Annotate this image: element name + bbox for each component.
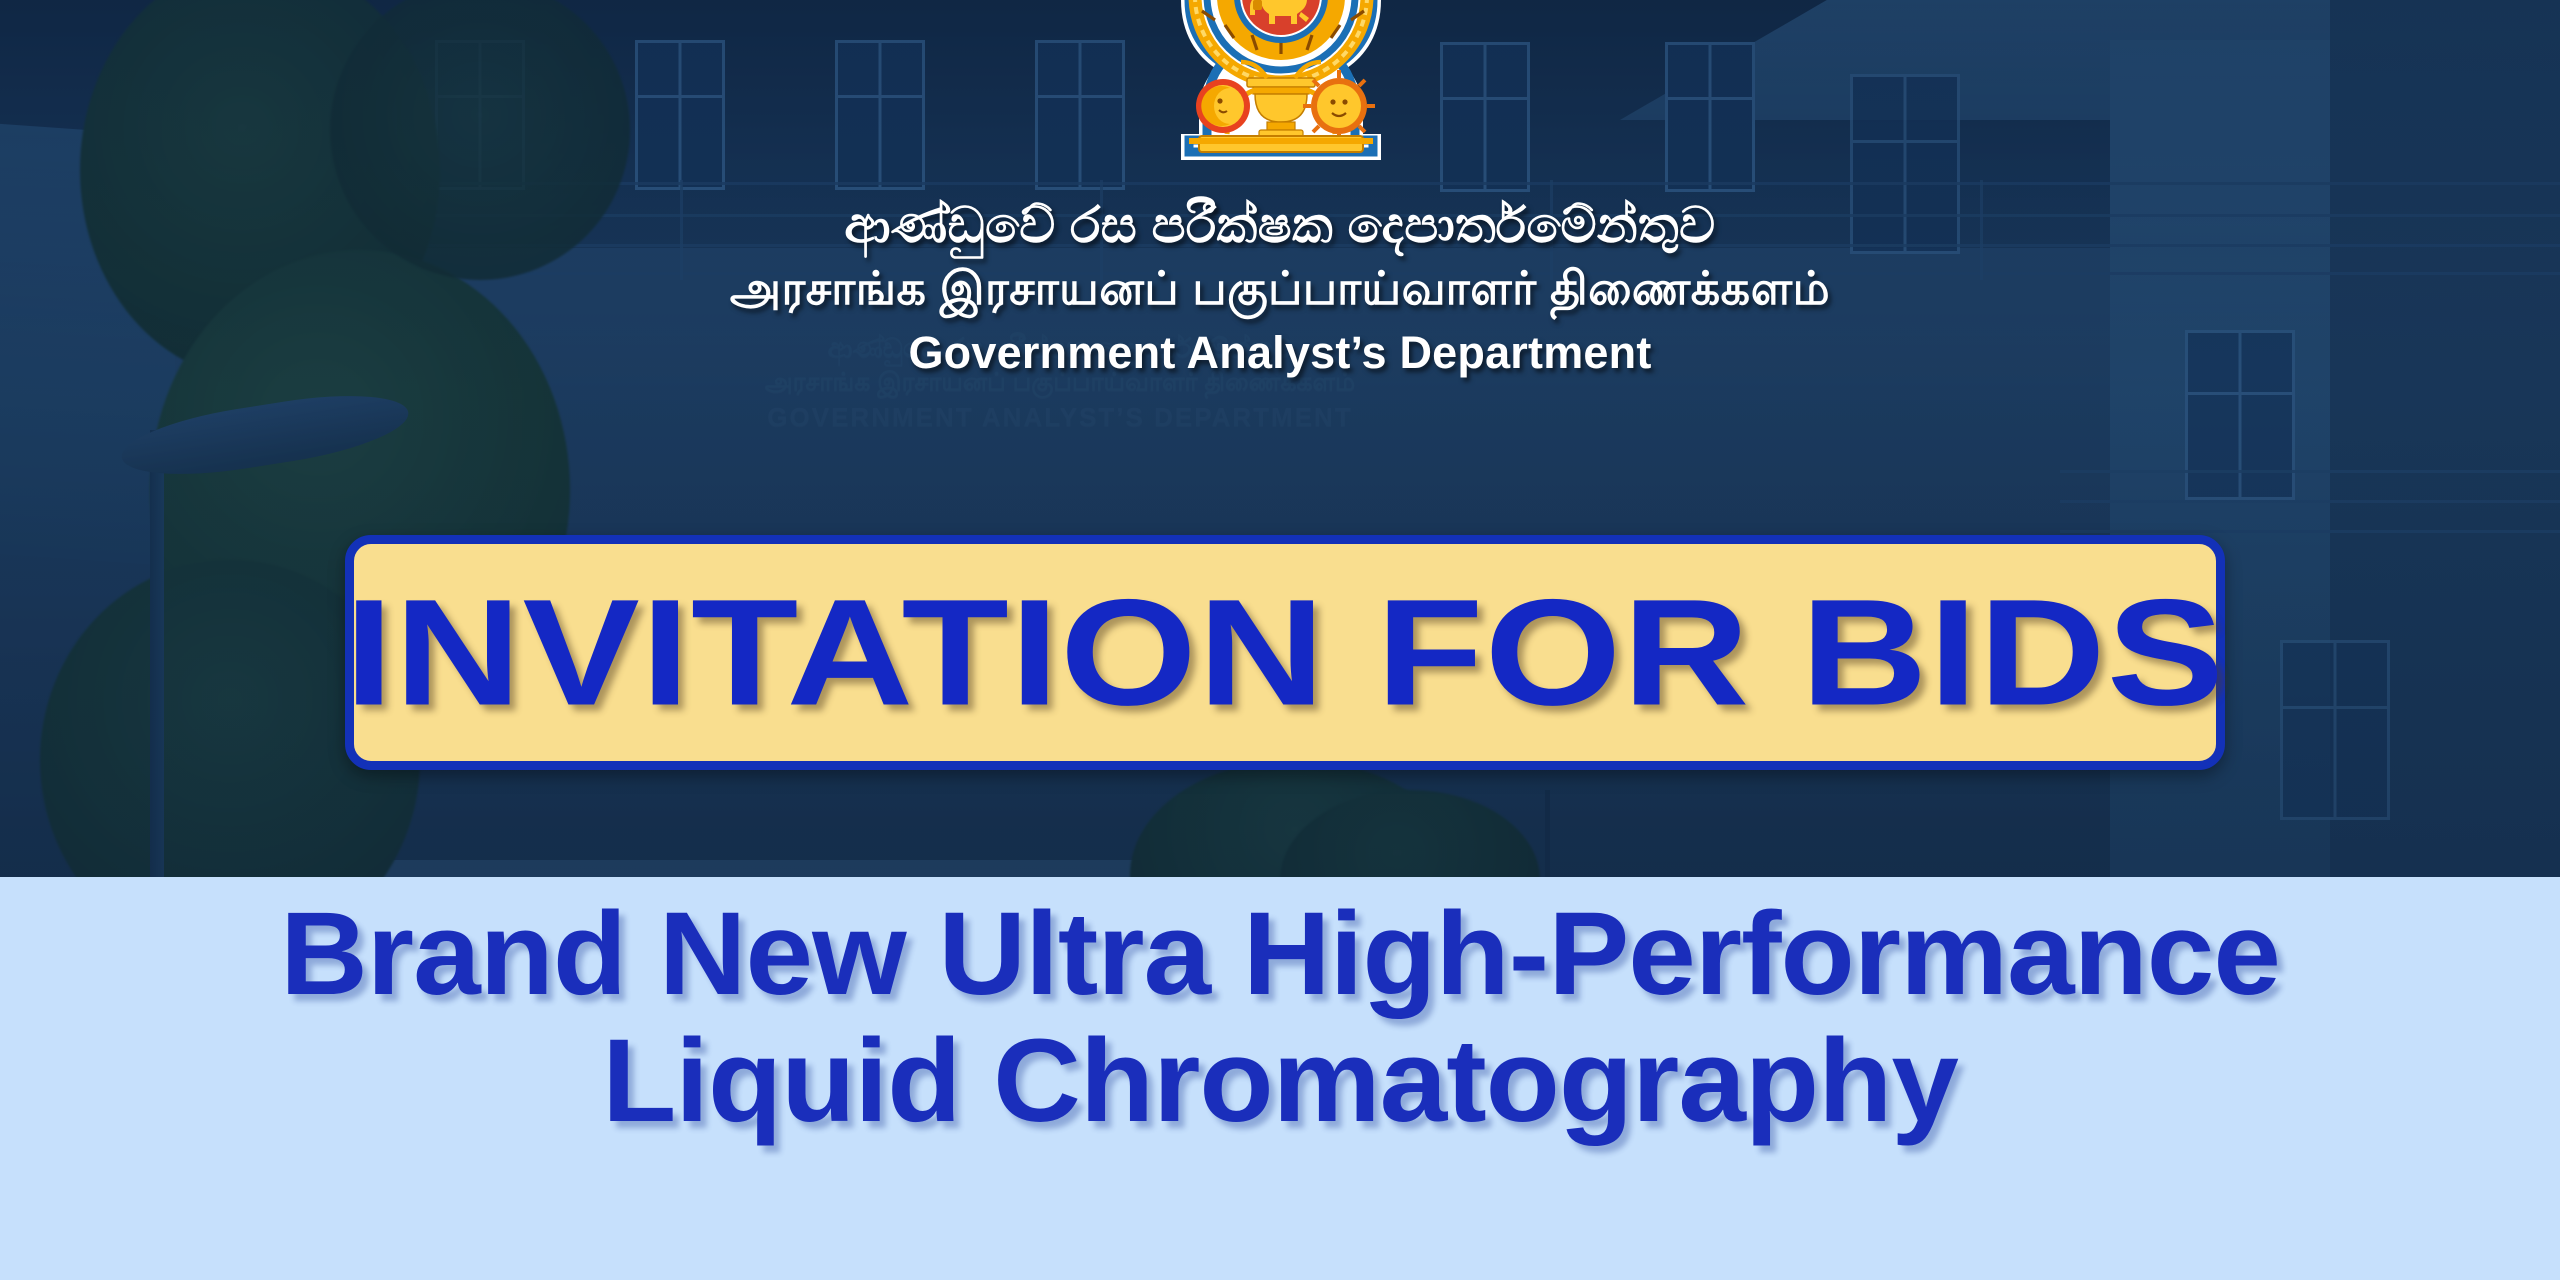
hero-photo-section: ආණ්ඩුවේ රස පරීක්ෂක දෙපාර්තමේන්තුව அரசாங்… (0, 0, 2560, 877)
sri-lanka-national-emblem (1175, 0, 1387, 166)
org-name-sinhala: ආණ්ඩුවේ රස පරීක්ෂක දෙපාර්තමේන්තුව (0, 196, 2560, 255)
organisation-name-block: ආණ්ඩුවේ රස පරීක්ෂක දෙපාර්තමේන්තුව அரசாங்… (0, 196, 2560, 381)
invitation-for-bids-title: INVITATION FOR BIDS (345, 565, 2226, 739)
subject-line-1: Brand New Ultra High-Performance (0, 891, 2560, 1018)
org-name-english: Government Analyst’s Department (0, 325, 2560, 381)
org-name-tamil: அரசாங்க இரசாயனப் பகுப்பாய்வாளர் திணைக்கள… (0, 259, 2560, 319)
moon-medallion (1196, 79, 1250, 133)
invitation-for-bids-poster: ආණ්ඩුවේ රස පරීක්ෂක දෙපාර්තමේන්තුව அரசாங்… (0, 0, 2560, 1280)
subject-line-2: Liquid Chromatography (0, 1018, 2560, 1145)
invitation-for-bids-banner: INVITATION FOR BIDS (345, 535, 2225, 770)
subject-band: Brand New Ultra High-Performance Liquid … (0, 877, 2560, 1280)
procurement-subject: Brand New Ultra High-Performance Liquid … (0, 891, 2560, 1146)
sun-medallion (1303, 70, 1375, 142)
